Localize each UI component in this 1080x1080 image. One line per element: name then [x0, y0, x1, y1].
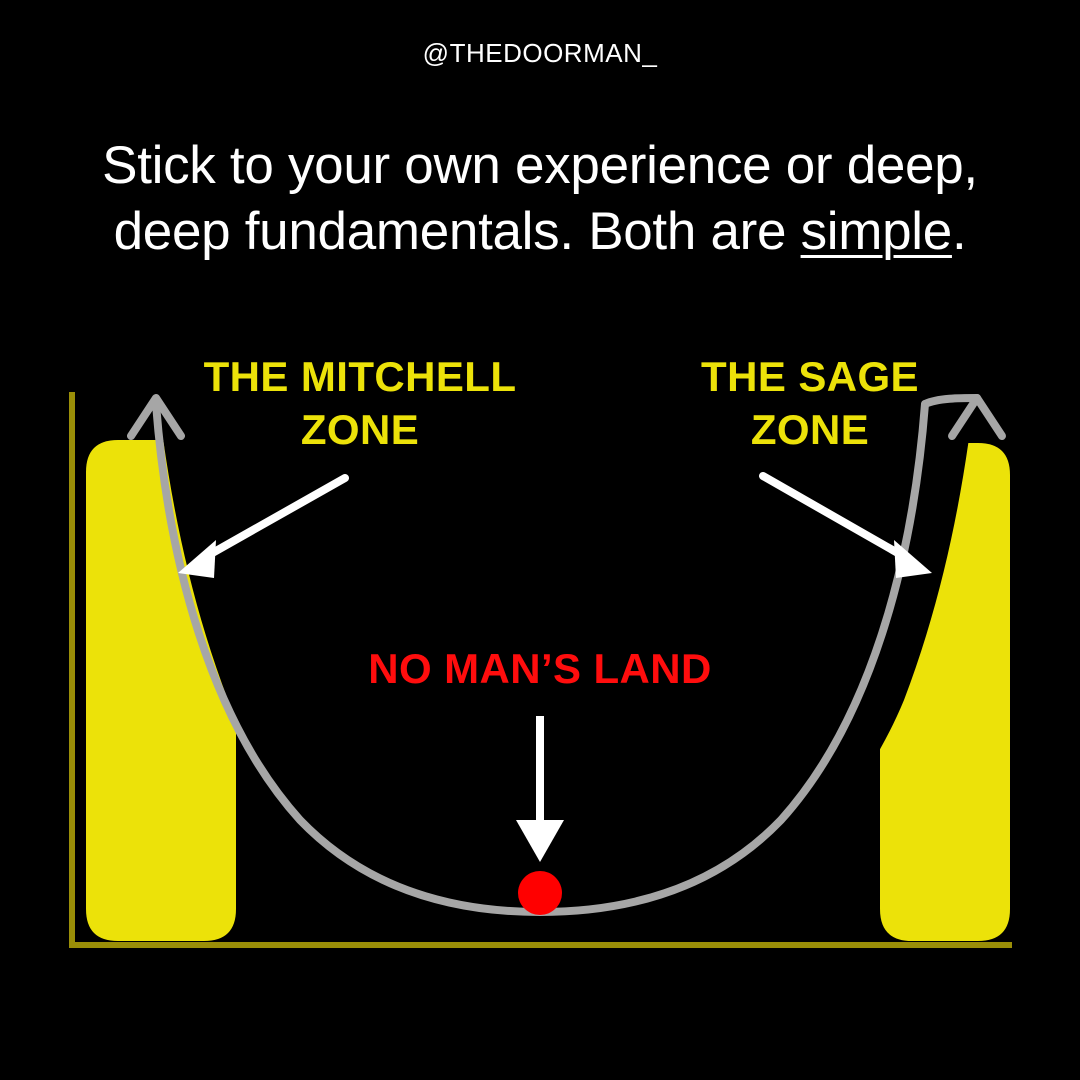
no-mans-land-pointer-arrow — [516, 716, 564, 862]
mitchell-pointer-arrow — [178, 478, 345, 578]
no-mans-land-dot — [518, 871, 562, 915]
poster-canvas: @THEDOORMAN_ Stick to your own experienc… — [0, 0, 1080, 1080]
sage-zone-label: THE SAGE ZONE — [600, 350, 1020, 456]
mitchell-zone-label: THE MITCHELL ZONE — [150, 350, 570, 456]
no-mans-land-label: NO MAN’S LAND — [290, 645, 790, 693]
competence-curve-chart — [0, 0, 1080, 1080]
